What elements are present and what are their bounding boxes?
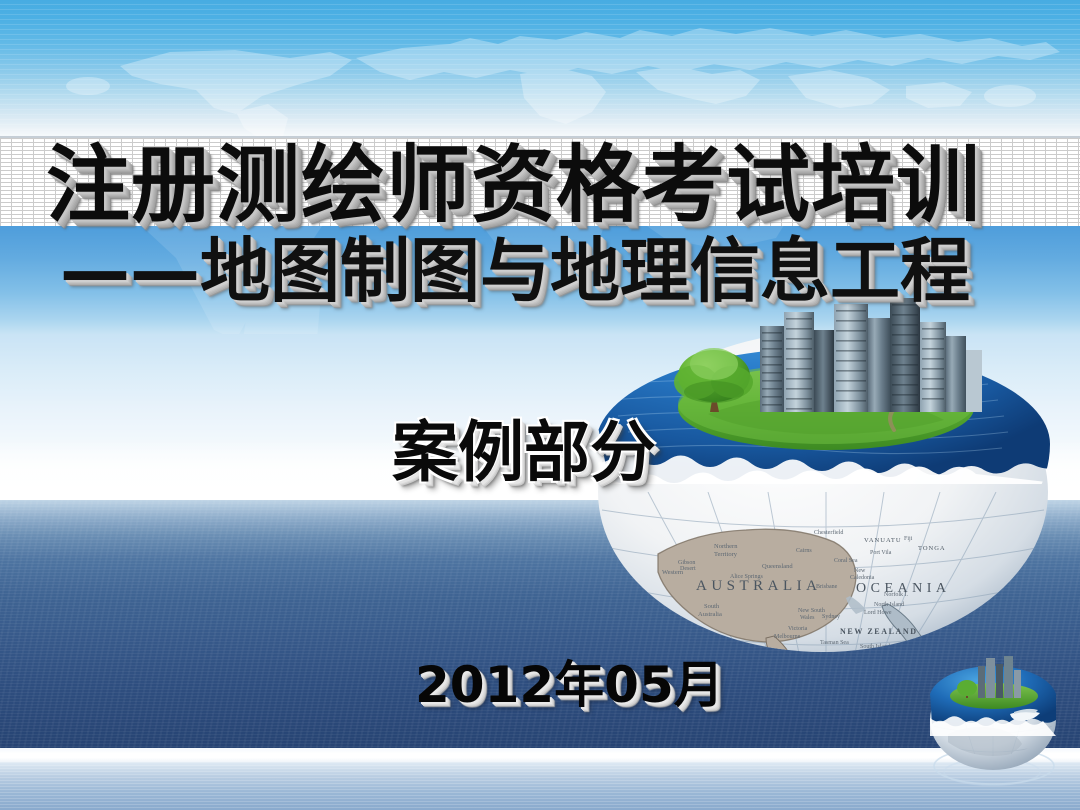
- page-subtitle: ——地图制图与地理信息工程: [60, 230, 1080, 312]
- svg-text:AUSTRALIA: AUSTRALIA: [696, 578, 822, 594]
- earth-island-globe: AUSTRALIA OCEANIA NEW ZEALAND Northern T…: [588, 296, 1058, 658]
- svg-text:Territory: Territory: [714, 551, 738, 558]
- svg-text:South: South: [704, 603, 720, 610]
- page-title: 注册测绘师资格考试培训: [46, 138, 1056, 232]
- section-label: 案例部分: [392, 415, 656, 491]
- mini-skyscrapers: [978, 656, 1021, 698]
- svg-text:South Island: South Island: [860, 644, 890, 650]
- svg-text:Caledonia: Caledonia: [850, 575, 875, 581]
- svg-text:Brisbane: Brisbane: [816, 584, 838, 590]
- svg-text:Fiji: Fiji: [904, 536, 913, 542]
- svg-text:Sydney: Sydney: [822, 614, 840, 620]
- svg-text:Chesterfield: Chesterfield: [814, 529, 843, 536]
- date-label: 2012年05月: [415, 655, 724, 715]
- mini-earth-island-globe: [918, 648, 1068, 798]
- earth-island-globe-svg: AUSTRALIA OCEANIA NEW ZEALAND Northern T…: [588, 296, 1058, 658]
- presentation-slide: AUSTRALIA OCEANIA NEW ZEALAND Northern T…: [0, 0, 1080, 810]
- svg-text:Lord Howe: Lord Howe: [864, 610, 892, 616]
- svg-text:New South: New South: [798, 608, 825, 614]
- mini-earth-island-globe-svg: [918, 648, 1068, 798]
- svg-text:New: New: [854, 568, 866, 574]
- svg-text:VANUATU: VANUATU: [864, 537, 902, 544]
- svg-text:Wales: Wales: [800, 615, 815, 621]
- svg-text:Port Vila: Port Vila: [870, 550, 892, 556]
- svg-text:Cairns: Cairns: [796, 548, 812, 554]
- svg-text:Northern: Northern: [714, 543, 738, 550]
- svg-text:North Island: North Island: [874, 602, 904, 608]
- svg-text:TONGA: TONGA: [918, 545, 946, 552]
- skyscrapers-cluster: [760, 298, 982, 412]
- world-map-watermark: [0, 0, 1080, 140]
- svg-text:Norfolk I.: Norfolk I.: [884, 591, 908, 598]
- svg-text:Queensland: Queensland: [762, 563, 793, 570]
- svg-text:NEW ZEALAND: NEW ZEALAND: [840, 627, 918, 636]
- svg-text:Melbourne: Melbourne: [774, 634, 801, 640]
- svg-text:Coral Sea: Coral Sea: [834, 558, 858, 564]
- svg-text:Australia: Australia: [698, 611, 722, 618]
- svg-text:Tasman Sea: Tasman Sea: [820, 640, 849, 646]
- svg-text:Alice Springs: Alice Springs: [730, 574, 763, 580]
- svg-text:Victoria: Victoria: [788, 626, 808, 632]
- svg-text:Desert: Desert: [680, 566, 696, 572]
